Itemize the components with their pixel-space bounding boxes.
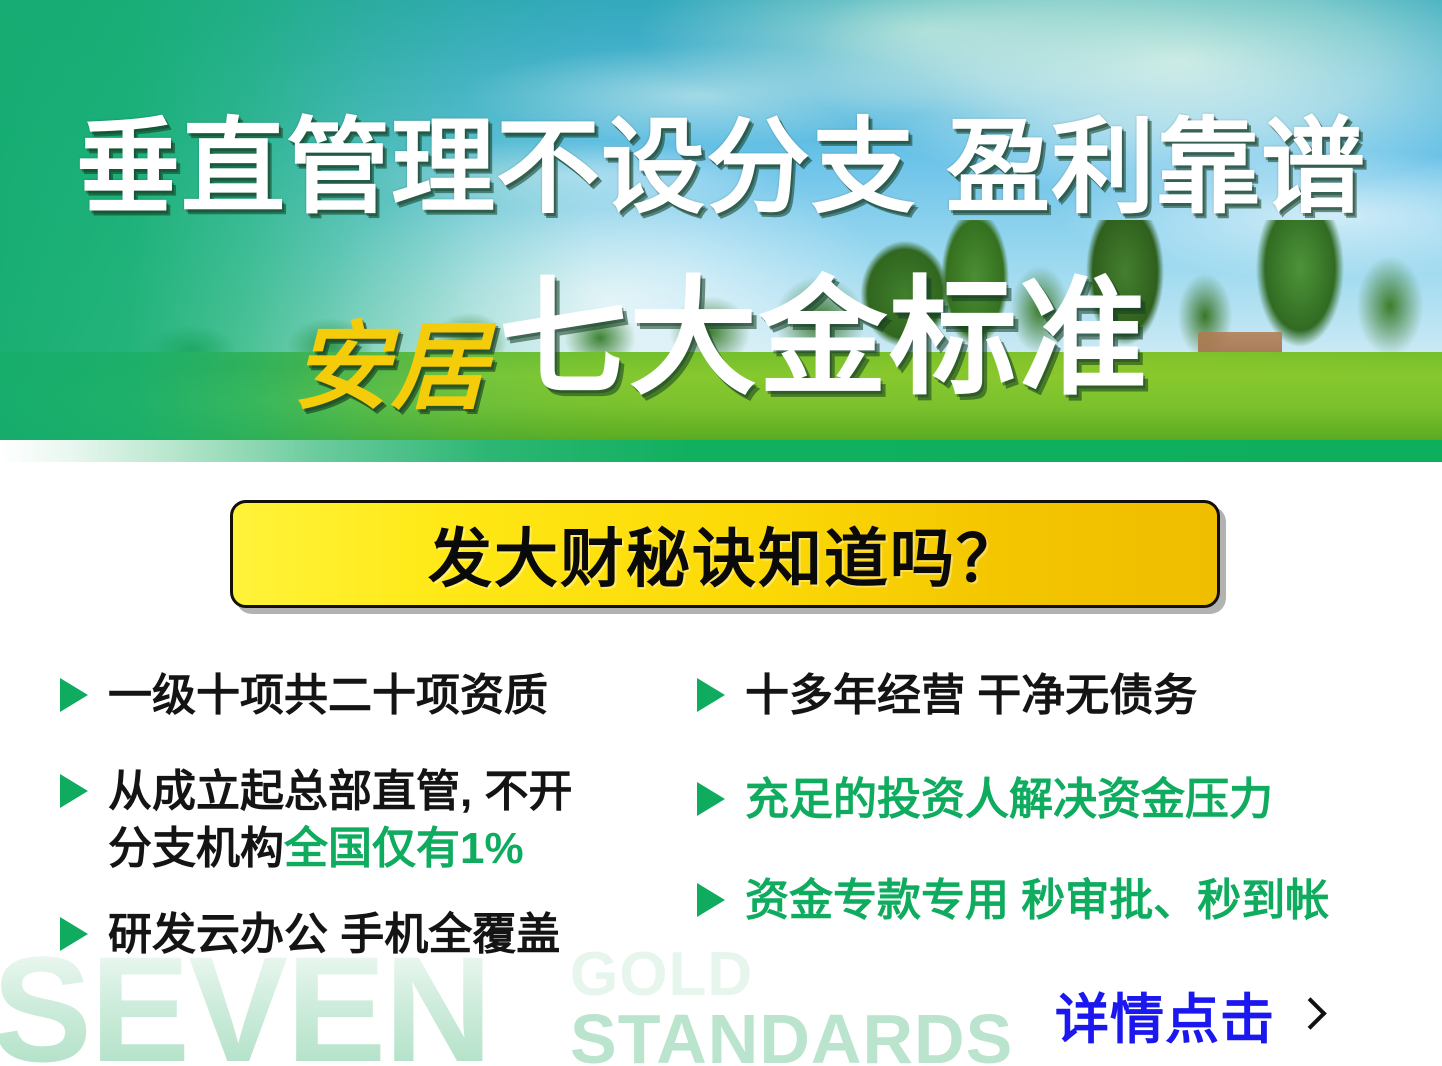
triangle-bullet-icon — [697, 782, 725, 816]
bullet-text: 资金专款专用 秒审批、秒到帐 — [745, 873, 1329, 929]
hero-subline: 安居七大金标准 — [0, 275, 1442, 403]
list-item: 资金专款专用 秒审批、秒到帐 — [697, 873, 1417, 929]
triangle-bullet-icon — [697, 883, 725, 917]
question-banner[interactable]: 发大财秘诀知道吗？ — [230, 500, 1220, 608]
bullet-text: 研发云办公 手机全覆盖 — [108, 907, 560, 963]
list-item: 一级十项共二十项资质 — [60, 668, 690, 724]
bullet-text-line-2-black: 分支机构 — [108, 824, 284, 873]
bullet-text: 一级十项共二十项资质 — [108, 668, 548, 724]
triangle-bullet-icon — [60, 678, 88, 712]
triangle-bullet-icon — [697, 678, 725, 712]
bullet-text-line-2-highlight: 全国仅有1% — [284, 824, 524, 873]
bullet-text: 充足的投资人解决资金压力 — [745, 772, 1273, 828]
bullet-list-left: 一级十项共二十项资质 从成立起总部直管, 不开 分支机构全国仅有1% 研发云办公… — [60, 668, 690, 997]
bullet-list-right: 十多年经营 干净无债务 充足的投资人解决资金压力 资金专款专用 秒审批、秒到帐 — [697, 668, 1417, 963]
question-banner-text: 发大财秘诀知道吗？ — [428, 508, 1022, 600]
bullet-text-block: 从成立起总部直管, 不开 分支机构全国仅有1% — [108, 764, 572, 877]
hero-bottom-green-strip — [0, 440, 1442, 462]
hero-headline: 垂直管理不设分支 盈利靠谱 — [0, 116, 1442, 220]
bullet-text-line-2: 分支机构全国仅有1% — [108, 821, 572, 877]
watermark-standards: STANDARDS — [570, 1004, 1013, 1066]
list-item: 研发云办公 手机全覆盖 — [60, 907, 690, 963]
triangle-bullet-icon — [60, 917, 88, 951]
list-item: 十多年经营 干净无债务 — [697, 668, 1417, 724]
hero-section: 垂直管理不设分支 盈利靠谱 安居七大金标准 — [0, 0, 1442, 462]
list-item: 充足的投资人解决资金压力 — [697, 772, 1417, 828]
details-cta-label: 详情点击 — [1055, 975, 1275, 1054]
promotional-banner-page: 垂直管理不设分支 盈利靠谱 安居七大金标准 发大财秘诀知道吗？ 一级十项共二十项… — [0, 0, 1442, 1066]
list-item: 从成立起总部直管, 不开 分支机构全国仅有1% — [60, 764, 690, 877]
chevron-right-icon — [1297, 996, 1319, 1034]
details-cta-link[interactable]: 详情点击 — [1055, 975, 1319, 1054]
bullet-text: 十多年经营 干净无债务 — [745, 668, 1197, 724]
bullet-text-line-1: 从成立起总部直管, 不开 — [108, 764, 572, 820]
hero-subline-main: 七大金标准 — [499, 275, 1149, 403]
triangle-bullet-icon — [60, 774, 88, 808]
hero-brand-word: 安居 — [293, 320, 489, 416]
